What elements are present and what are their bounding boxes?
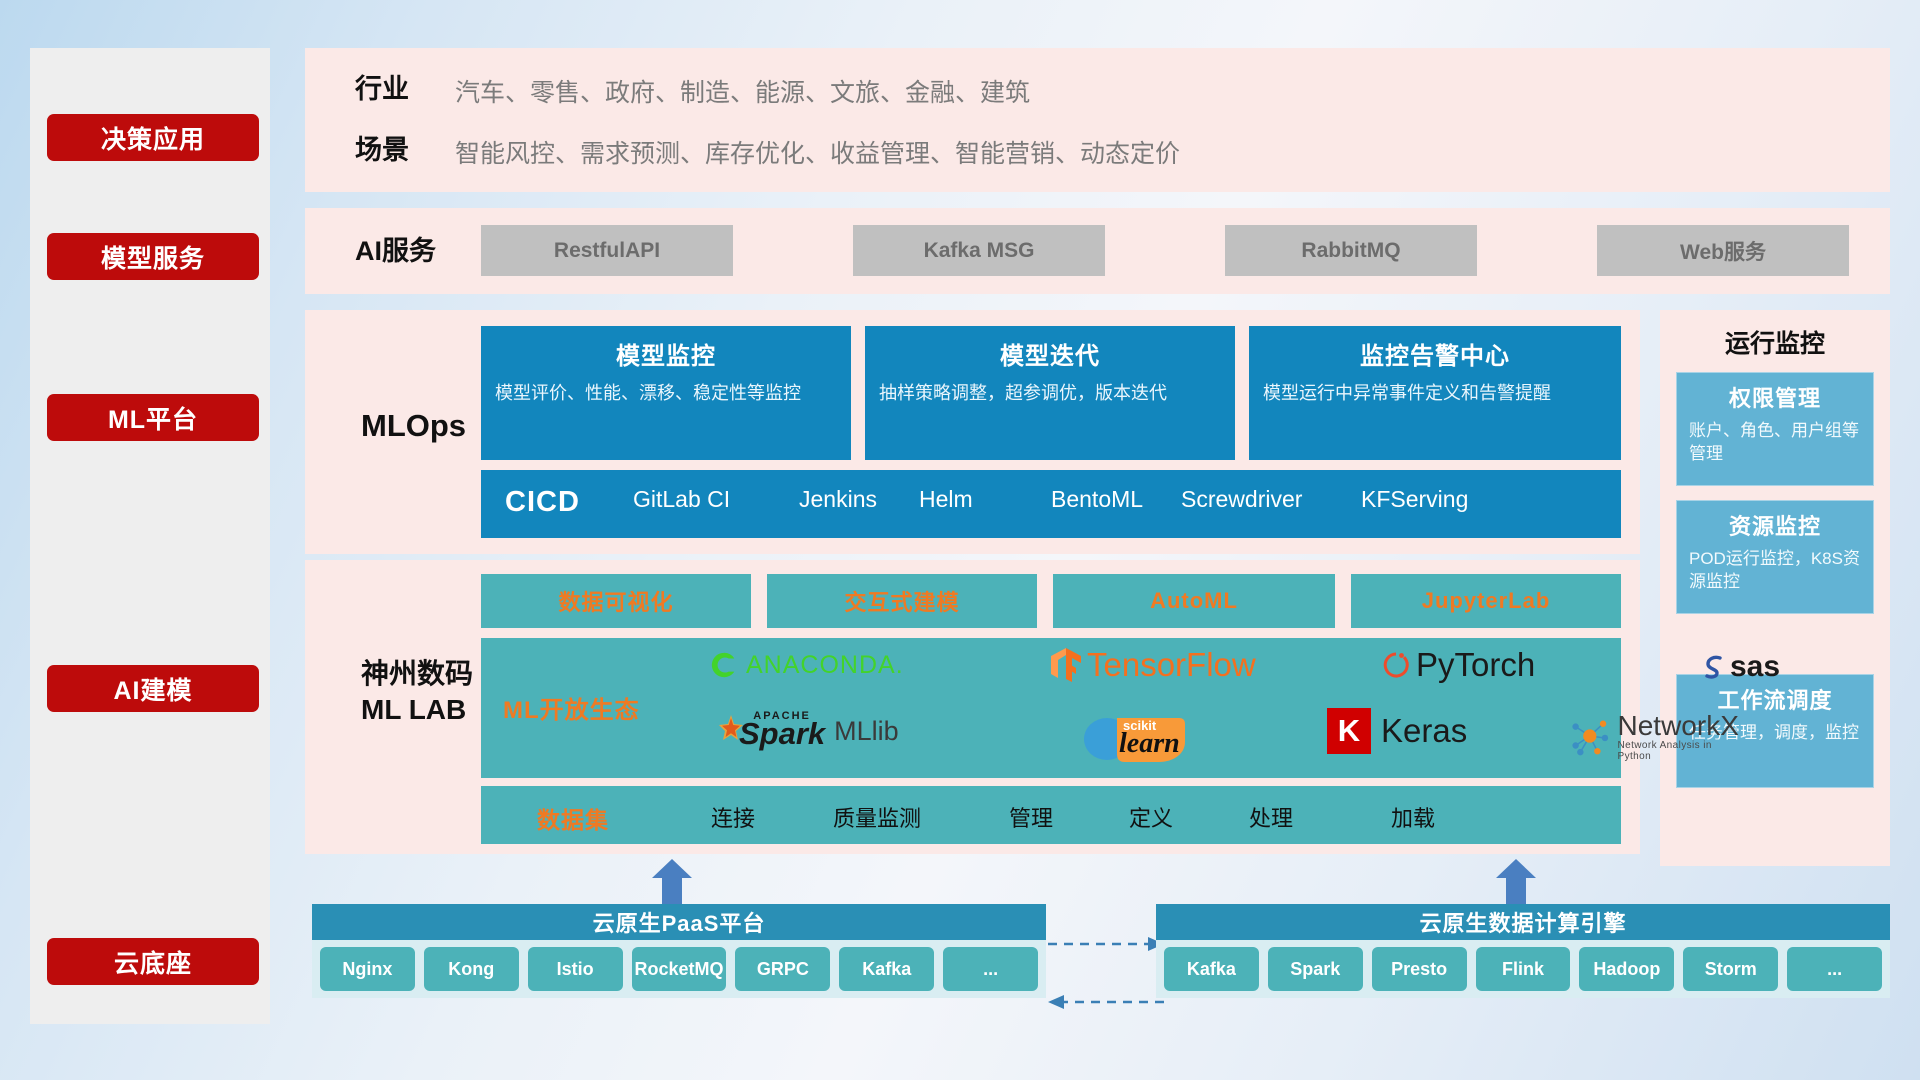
mlops-card-model-iteration[interactable]: 模型迭代 抽样策略调整，超参调优，版本迭代 <box>865 326 1235 460</box>
scenario-value: 智能风控、需求预测、库存优化、收益管理、智能营销、动态定价 <box>455 134 1180 170</box>
scenario-label: 场景 <box>355 133 409 168</box>
run-monitor-panel: 运行监控 权限管理 账户、角色、用户组等管理 资源监控 POD运行监控，K8S资… <box>1660 310 1890 866</box>
networkx-wordmark: NetworkX <box>1618 712 1742 740</box>
cicd-bar: CICD GitLab CI Jenkins Helm BentoML Scre… <box>481 470 1621 538</box>
keras-logo: K Keras <box>1327 708 1467 754</box>
cloud-paas-block: 云原生PaaS平台 Nginx Kong Istio RocketMQ GRPC… <box>312 904 1046 998</box>
spark-wordmark-wrap: APACHE Spark <box>739 710 825 752</box>
cloud-paas-tags: Nginx Kong Istio RocketMQ GRPC Kafka ... <box>312 940 1046 998</box>
networkx-icon <box>1569 716 1613 758</box>
engine-tag-storm[interactable]: Storm <box>1683 947 1778 991</box>
sas-logo: sas <box>1699 650 1780 684</box>
engine-tag-presto[interactable]: Presto <box>1372 947 1467 991</box>
cicd-item-screwdriver[interactable]: Screwdriver <box>1181 486 1291 512</box>
tab-label: JupyterLab <box>1422 588 1551 614</box>
rail-item-cloud-base[interactable]: 云底座 <box>47 938 259 985</box>
card-desc: 抽样策略调整，超参调优，版本迭代 <box>879 381 1221 405</box>
tab-jupyterlab[interactable]: JupyterLab <box>1351 574 1621 628</box>
rail-item-ml-platform[interactable]: ML平台 <box>47 394 259 441</box>
sas-icon <box>1699 652 1729 682</box>
ai-service-panel: AI服务 RestfulAPI Kafka MSG RabbitMQ Web服务 <box>305 208 1890 294</box>
rail-label: ML平台 <box>108 400 198 436</box>
rail-label: 模型服务 <box>101 239 205 275</box>
card-title: 模型监控 <box>495 336 837 371</box>
service-chip-kafka-msg[interactable]: Kafka MSG <box>853 225 1105 276</box>
monitor-card-permission[interactable]: 权限管理 账户、角色、用户组等管理 <box>1676 372 1874 486</box>
ml-lab-panel: 神州数码 ML LAB 数据可视化 交互式建模 AutoML JupyterLa… <box>305 560 1640 854</box>
dataset-item-manage[interactable]: 管理 <box>1009 801 1053 833</box>
cloud-paas-title: 云原生PaaS平台 <box>312 904 1046 940</box>
run-monitor-title: 运行监控 <box>1660 324 1890 360</box>
dataset-label: 数据集 <box>537 801 609 835</box>
cloud-engine-tags: Kafka Spark Presto Flink Hadoop Storm ..… <box>1156 940 1890 998</box>
ml-ecosystem-bar: ML开放生态 ANACONDA . TensorFlow <box>481 638 1621 778</box>
networkx-logo: NetworkX Network Analysis in Python <box>1569 712 1741 762</box>
mlops-label: MLOps <box>361 406 466 446</box>
rail-item-decision-app[interactable]: 决策应用 <box>47 114 259 161</box>
pytorch-logo: PyTorch <box>1381 646 1535 684</box>
anaconda-logo: ANACONDA . <box>709 650 903 680</box>
keras-wordmark: Keras <box>1381 712 1467 750</box>
service-chip-rabbitmq[interactable]: RabbitMQ <box>1225 225 1477 276</box>
rail-label: 决策应用 <box>101 120 205 156</box>
rail-item-model-service[interactable]: 模型服务 <box>47 233 259 280</box>
paas-tag-kong[interactable]: Kong <box>424 947 519 991</box>
paas-tag-istio[interactable]: Istio <box>528 947 623 991</box>
engine-tag-kafka[interactable]: Kafka <box>1164 947 1259 991</box>
anaconda-icon <box>709 650 739 680</box>
tab-label: AutoML <box>1150 588 1238 614</box>
dataset-bar: 数据集 连接 质量监测 管理 定义 处理 加载 <box>481 786 1621 844</box>
cicd-item-kfserving[interactable]: KFServing <box>1361 486 1465 512</box>
industry-scenario-panel: 行业 汽车、零售、政府、制造、能源、文旅、金融、建筑 场景 智能风控、需求预测、… <box>305 48 1890 192</box>
rail-label: AI建模 <box>113 671 192 707</box>
engine-tag-hadoop[interactable]: Hadoop <box>1579 947 1674 991</box>
mlops-card-model-monitoring[interactable]: 模型监控 模型评价、性能、漂移、稳定性等监控 <box>481 326 851 460</box>
dataset-item-quality[interactable]: 质量监测 <box>833 801 921 833</box>
tensorflow-icon <box>1049 646 1083 684</box>
cloud-engine-block: 云原生数据计算引擎 Kafka Spark Presto Flink Hadoo… <box>1156 904 1890 998</box>
rail-label: 云底座 <box>114 944 192 980</box>
networkx-tagline: Network Analysis in Python <box>1618 740 1742 762</box>
spark-mllib-logo: APACHE Spark MLlib <box>707 710 899 752</box>
sas-wordmark: sas <box>1730 650 1780 684</box>
keras-badge-icon: K <box>1327 708 1371 754</box>
cicd-item-gitlab-ci[interactable]: GitLab CI <box>633 486 753 512</box>
card-desc: 模型运行中异常事件定义和告警提醒 <box>1263 381 1607 405</box>
architecture-diagram: 决策应用 模型服务 ML平台 AI建模 云底座 行业 汽车、零售、政府、制造、能… <box>0 0 1920 1080</box>
service-chip-web-service[interactable]: Web服务 <box>1597 225 1849 276</box>
tab-label: 交互式建模 <box>844 585 959 617</box>
anaconda-dot: . <box>896 651 903 680</box>
cicd-item-helm[interactable]: Helm <box>919 486 1039 512</box>
card-title: 资源监控 <box>1689 509 1861 541</box>
bidirectional-link-icon <box>1046 930 1166 1020</box>
scikit-learn-logo: scikit learn <box>1081 712 1197 764</box>
anaconda-wordmark: ANACONDA <box>746 651 896 680</box>
mllib-wordmark: MLlib <box>834 716 899 747</box>
chip-label: RestfulAPI <box>554 239 660 263</box>
paas-tag-grpc[interactable]: GRPC <box>735 947 830 991</box>
monitor-card-resource[interactable]: 资源监控 POD运行监控，K8S资源监控 <box>1676 500 1874 614</box>
tab-interactive-modeling[interactable]: 交互式建模 <box>767 574 1037 628</box>
card-desc: 模型评价、性能、漂移、稳定性等监控 <box>495 381 837 405</box>
dataset-item-process[interactable]: 处理 <box>1249 801 1293 833</box>
up-arrow-engine-icon <box>1494 858 1538 904</box>
cicd-item-jenkins[interactable]: Jenkins <box>799 486 871 512</box>
cicd-item-bentoml[interactable]: BentoML <box>1051 486 1143 512</box>
spark-star-icon <box>707 714 743 748</box>
pytorch-icon <box>1381 648 1411 682</box>
card-title: 监控告警中心 <box>1263 336 1607 371</box>
ml-lab-label: 神州数码 ML LAB <box>361 656 473 728</box>
industry-value: 汽车、零售、政府、制造、能源、文旅、金融、建筑 <box>455 73 1030 109</box>
rail-item-ai-modeling[interactable]: AI建模 <box>47 665 259 712</box>
tensorflow-wordmark: TensorFlow <box>1087 646 1256 684</box>
dataset-item-define[interactable]: 定义 <box>1129 801 1173 833</box>
paas-tag-kafka[interactable]: Kafka <box>839 947 934 991</box>
card-title: 模型迭代 <box>879 336 1221 371</box>
chip-label: Web服务 <box>1680 236 1766 266</box>
up-arrow-paas-icon <box>650 858 694 904</box>
tab-data-visualization[interactable]: 数据可视化 <box>481 574 751 628</box>
tensorflow-logo: TensorFlow <box>1049 646 1256 684</box>
ai-service-label: AI服务 <box>355 234 436 269</box>
networkx-wordmark-wrap: NetworkX Network Analysis in Python <box>1618 712 1742 762</box>
engine-tag-flink[interactable]: Flink <box>1476 947 1571 991</box>
tab-label: 数据可视化 <box>558 585 673 617</box>
engine-tag-more[interactable]: ... <box>1787 947 1882 991</box>
engine-tag-spark[interactable]: Spark <box>1268 947 1363 991</box>
spark-wordmark: Spark <box>739 716 825 751</box>
learn-wordmark: learn <box>1119 728 1180 760</box>
ml-ecosystem-label: ML开放生态 <box>503 690 640 725</box>
mlops-card-alert-center[interactable]: 监控告警中心 模型运行中异常事件定义和告警提醒 <box>1249 326 1621 460</box>
pytorch-wordmark: PyTorch <box>1416 646 1535 684</box>
chip-label: Kafka MSG <box>924 239 1035 263</box>
cicd-title: CICD <box>505 486 580 519</box>
mlops-panel: MLOps 模型监控 模型评价、性能、漂移、稳定性等监控 模型迭代 抽样策略调整… <box>305 310 1640 554</box>
paas-tag-nginx[interactable]: Nginx <box>320 947 415 991</box>
dataset-item-connect[interactable]: 连接 <box>711 801 755 833</box>
left-rail: 决策应用 模型服务 ML平台 AI建模 云底座 <box>30 48 270 1024</box>
paas-tag-rocketmq[interactable]: RocketMQ <box>632 947 727 991</box>
dataset-item-load[interactable]: 加载 <box>1391 801 1435 833</box>
cloud-engine-title: 云原生数据计算引擎 <box>1156 904 1890 940</box>
industry-label: 行业 <box>355 72 409 107</box>
paas-tag-more[interactable]: ... <box>943 947 1038 991</box>
card-desc: POD运行监控，K8S资源监控 <box>1689 548 1861 594</box>
service-chip-restfulapi[interactable]: RestfulAPI <box>481 225 733 276</box>
tab-automl[interactable]: AutoML <box>1053 574 1335 628</box>
card-desc: 账户、角色、用户组等管理 <box>1689 420 1861 466</box>
card-title: 权限管理 <box>1689 381 1861 413</box>
chip-label: RabbitMQ <box>1301 239 1400 263</box>
